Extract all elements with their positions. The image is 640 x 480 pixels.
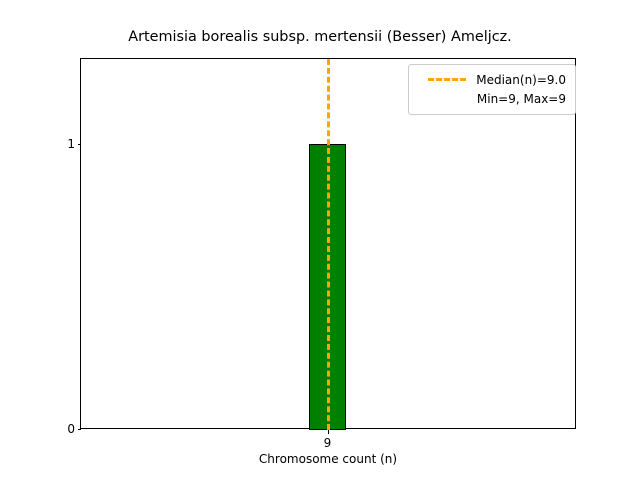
chart-legend: Median(n)=9.0 Min=9, Max=9	[408, 64, 576, 115]
x-tick-mark	[328, 430, 329, 434]
x-tick-label: 9	[324, 436, 332, 450]
legend-entry-median: Median(n)=9.0	[418, 70, 566, 89]
legend-entry-minmax: Min=9, Max=9	[418, 89, 566, 108]
y-tick-label: 0	[67, 422, 75, 436]
legend-entry-label: Min=9, Max=9	[477, 92, 566, 106]
dashed-line-icon	[428, 78, 466, 81]
chart-title: Artemisia borealis subsp. mertensii (Bes…	[0, 29, 640, 45]
chart-figure: Artemisia borealis subsp. mertensii (Bes…	[0, 0, 640, 480]
y-tick-mark	[78, 429, 82, 430]
median-line	[327, 59, 330, 430]
x-axis-label: Chromosome count (n)	[80, 452, 576, 466]
y-tick-mark	[78, 144, 82, 145]
legend-entry-label: Median(n)=9.0	[476, 73, 566, 87]
y-axis-label-wrapper: Num of counts (Total 1)	[0, 58, 62, 429]
y-tick-label: 1	[67, 137, 75, 151]
